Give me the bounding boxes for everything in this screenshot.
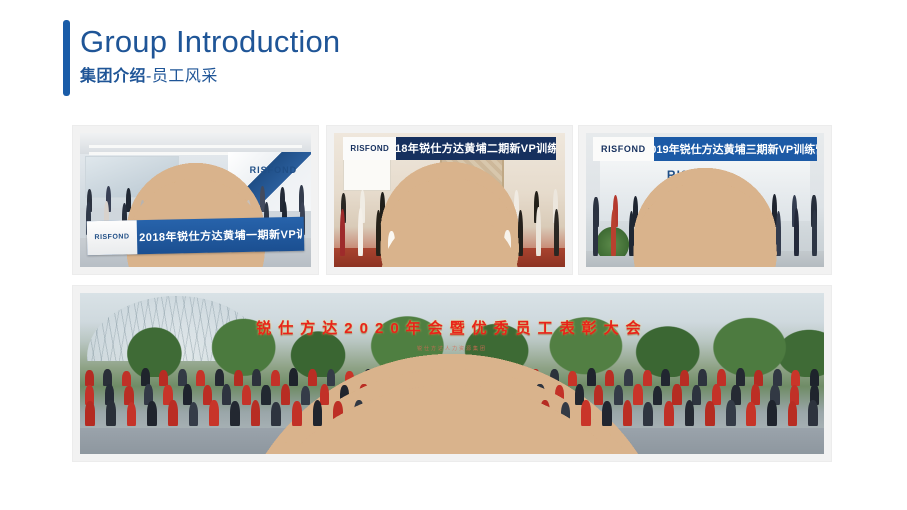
- photo-1-wall-logo: RISFOND: [250, 165, 298, 175]
- photo-3-banner-logo-area: RISFOND: [593, 137, 653, 161]
- group-photo-image: 锐仕方达2020年会暨优秀员工表彰大会 锐仕方达人力资源集团: [80, 293, 824, 454]
- group-photo-headline: 锐仕方达2020年会暨优秀员工表彰大会: [132, 317, 772, 338]
- photo-1-banner-text: 2018年锐仕方达黄埔一期新VP训练营: [139, 217, 303, 254]
- photo-2-banner-text: 2018年锐仕方达黄埔二期新VP训练营: [396, 137, 555, 160]
- photo-card-1[interactable]: RISFOND: [72, 125, 319, 275]
- slide-root: Group Introduction 集团介绍-员工风采 RISFOND: [0, 0, 907, 510]
- photo-1-banner-logo-area: RISFOND: [87, 220, 138, 255]
- risfond-logo-icon: RISFOND: [601, 144, 646, 154]
- photo-2-image: RISFOND 2018年锐仕方达黄埔二期新VP训练营: [334, 133, 565, 267]
- page-subtitle-cn-bold: 集团介绍: [80, 68, 146, 85]
- photo-3-banner: RISFOND 2019年锐仕方达黄埔三期新VP训练营: [593, 137, 817, 161]
- group-photo-subheadline: 锐仕方达人力资源集团: [229, 345, 675, 352]
- risfond-logo-icon: RISFOND: [94, 233, 129, 241]
- slide-header: Group Introduction 集团介绍-员工风采: [63, 20, 483, 100]
- photo-2-crowd: [334, 181, 565, 256]
- photo-2-banner-logo-area: RISFOND: [343, 137, 396, 160]
- page-subtitle: 集团介绍-员工风采: [80, 65, 218, 89]
- photo-card-3[interactable]: RISFOND RISFOND 2019年锐仕方达黄埔三期新VP训练营: [578, 125, 832, 275]
- page-title: Group Introduction: [80, 22, 340, 62]
- photo-3-banner-text: 2019年锐仕方达黄埔三期新VP训练营: [654, 137, 817, 161]
- risfond-logo-icon: RISFOND: [350, 144, 389, 153]
- page-subtitle-cn-regular: -员工风采: [146, 68, 218, 85]
- photo-card-2[interactable]: RISFOND 2018年锐仕方达黄埔二期新VP训练营: [326, 125, 573, 275]
- group-photo-crowd: [80, 364, 824, 438]
- photo-1-image: RISFOND: [80, 133, 311, 267]
- photo-3-image: RISFOND RISFOND 2019年锐仕方达黄埔三期新VP训练营: [586, 133, 824, 267]
- photo-2-banner: RISFOND 2018年锐仕方达黄埔二期新VP训练营: [343, 137, 556, 160]
- photo-1-banner: RISFOND 2018年锐仕方达黄埔一期新VP训练营: [87, 216, 305, 254]
- group-photo-card[interactable]: 锐仕方达2020年会暨优秀员工表彰大会 锐仕方达人力资源集团: [72, 285, 832, 462]
- photo-3-crowd: [586, 187, 824, 257]
- title-accent-bar: [63, 20, 70, 96]
